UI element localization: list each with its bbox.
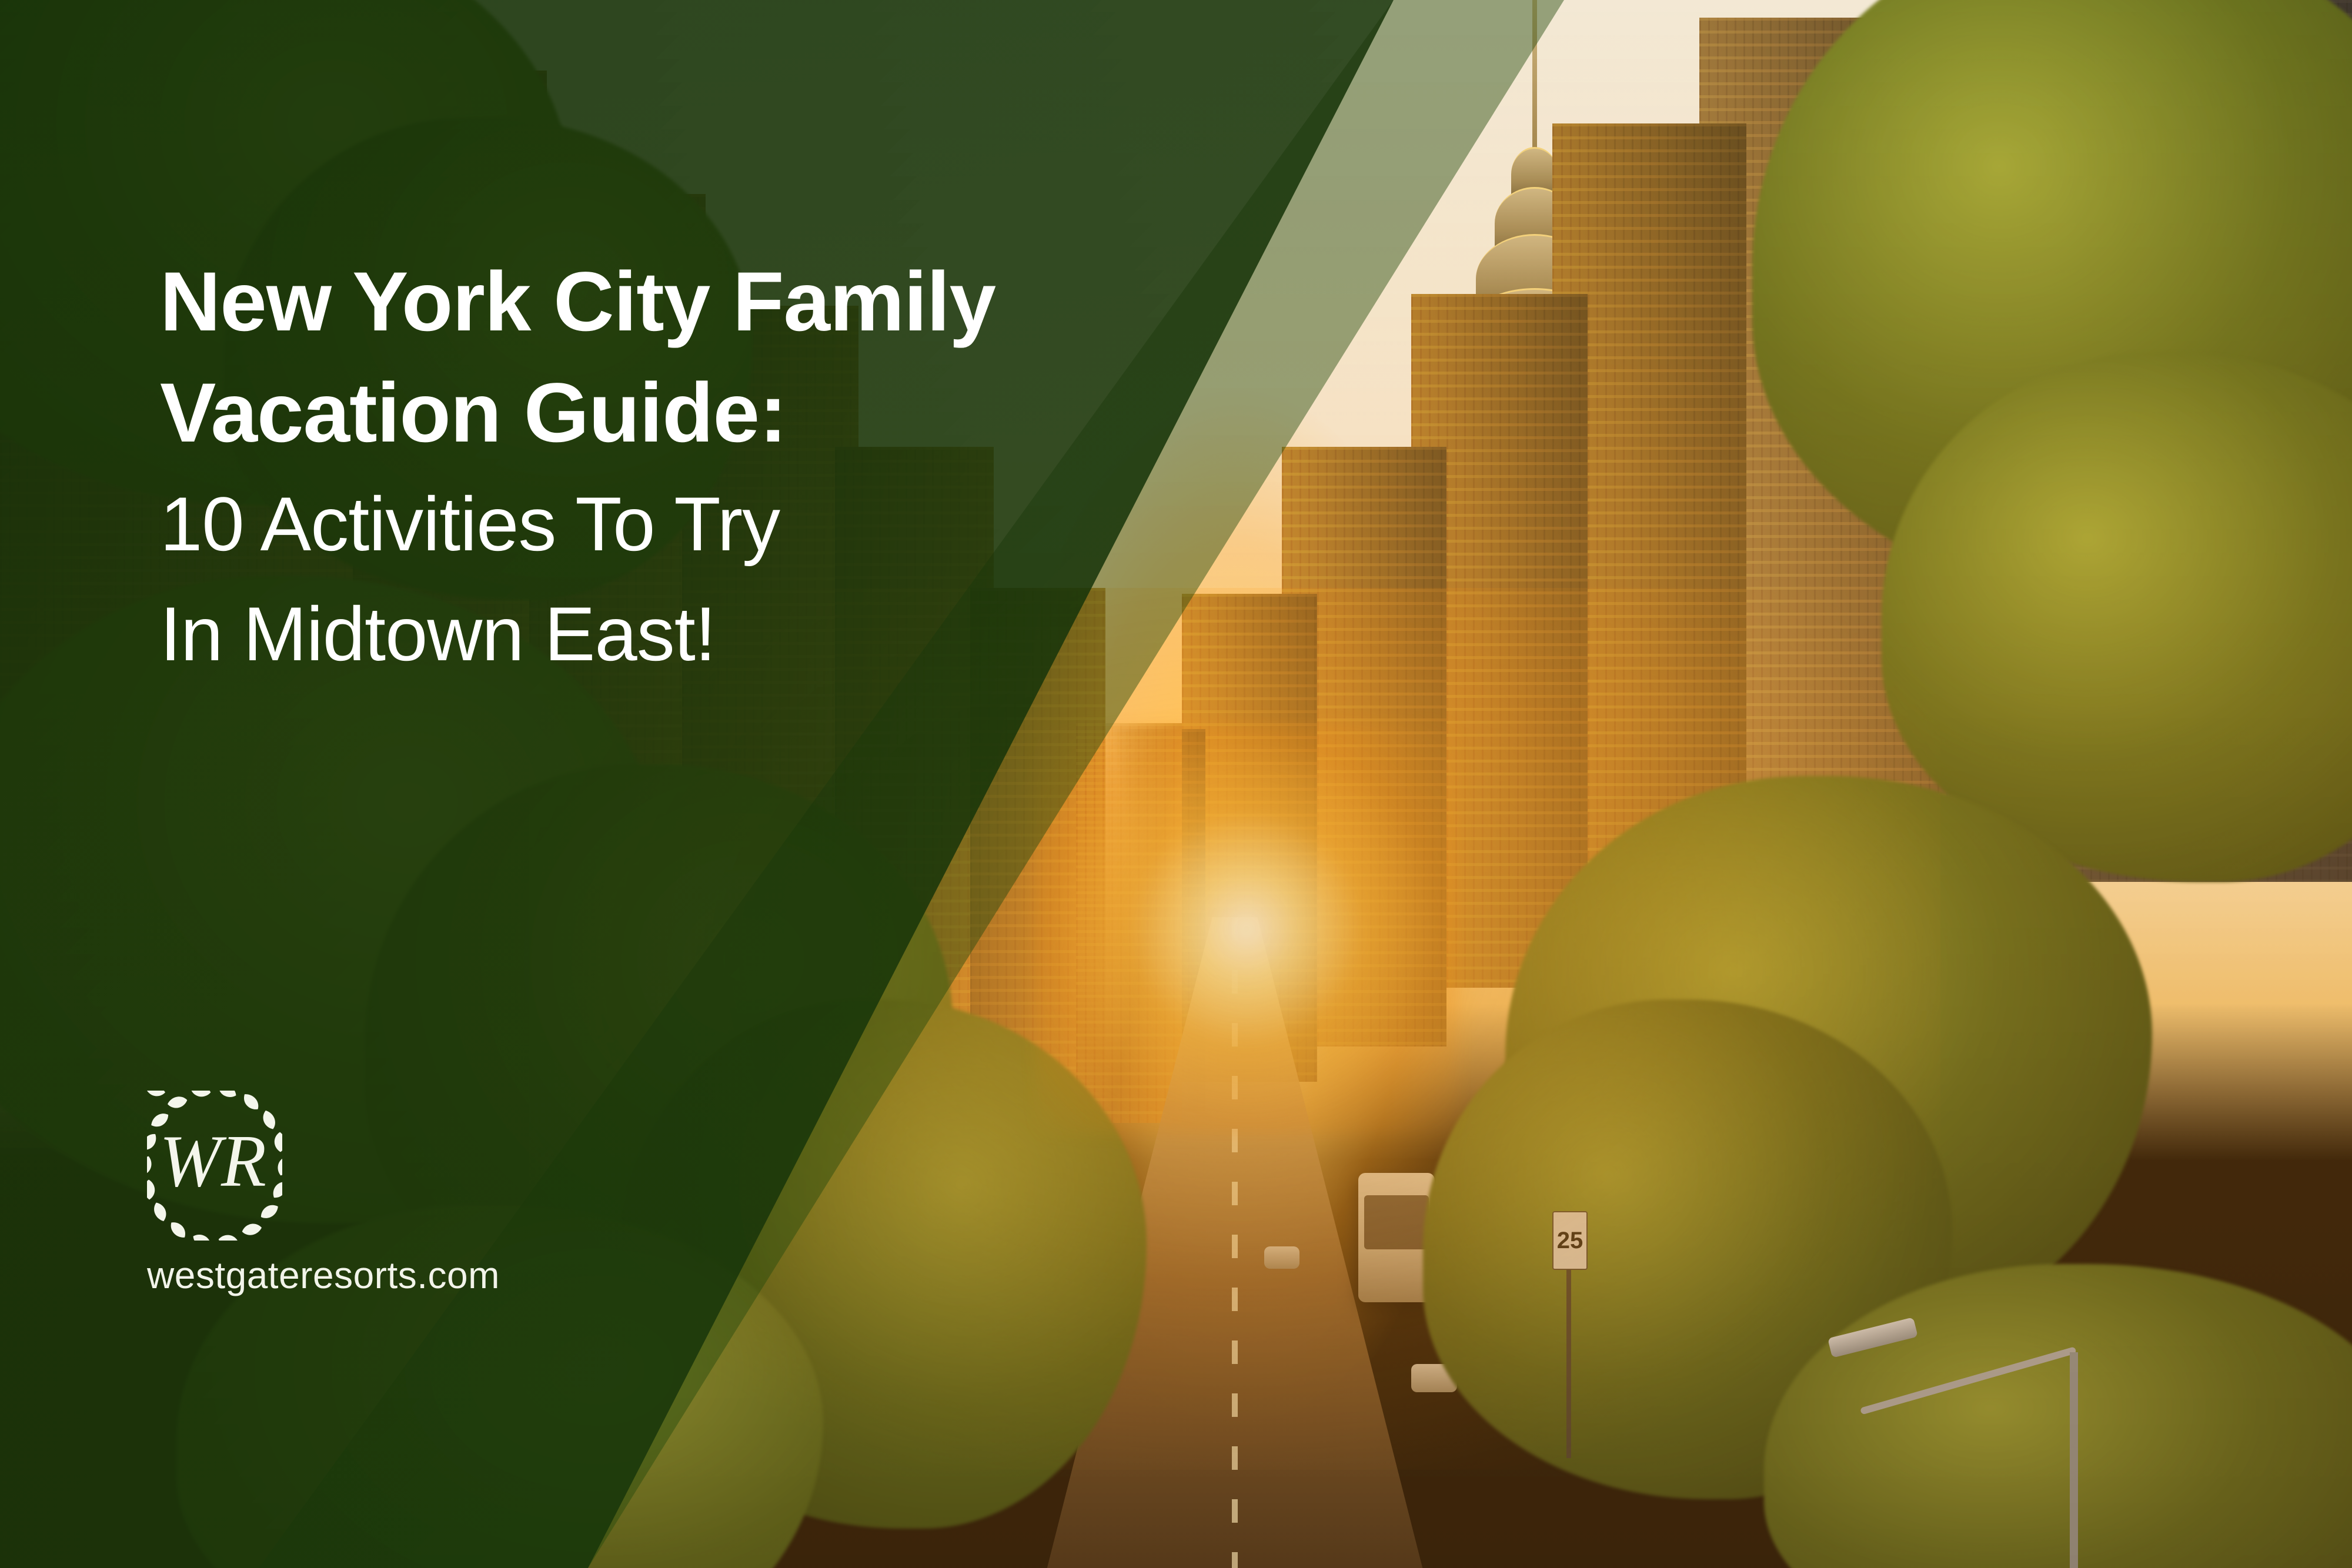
subtitle-line-2: In Midtown East! <box>160 579 1218 689</box>
brand-block[interactable]: WR westgateresorts.com <box>147 1091 512 1297</box>
subtitle-line-1: 10 Activities To Try <box>160 469 1218 579</box>
headline-block: New York City Family Vacation Guide: 10 … <box>160 247 1218 689</box>
title-line-2: Vacation Guide: <box>160 358 1218 469</box>
banner-content: New York City Family Vacation Guide: 10 … <box>0 0 2352 1568</box>
laurel-wreath-logo-icon: WR <box>147 1091 282 1241</box>
website-url[interactable]: westgateresorts.com <box>147 1253 512 1297</box>
banner-image: 25 New York City Family Vacation Guide: … <box>0 0 2352 1568</box>
svg-text:WR: WR <box>159 1121 266 1202</box>
title-line-1: New York City Family <box>160 247 1218 358</box>
